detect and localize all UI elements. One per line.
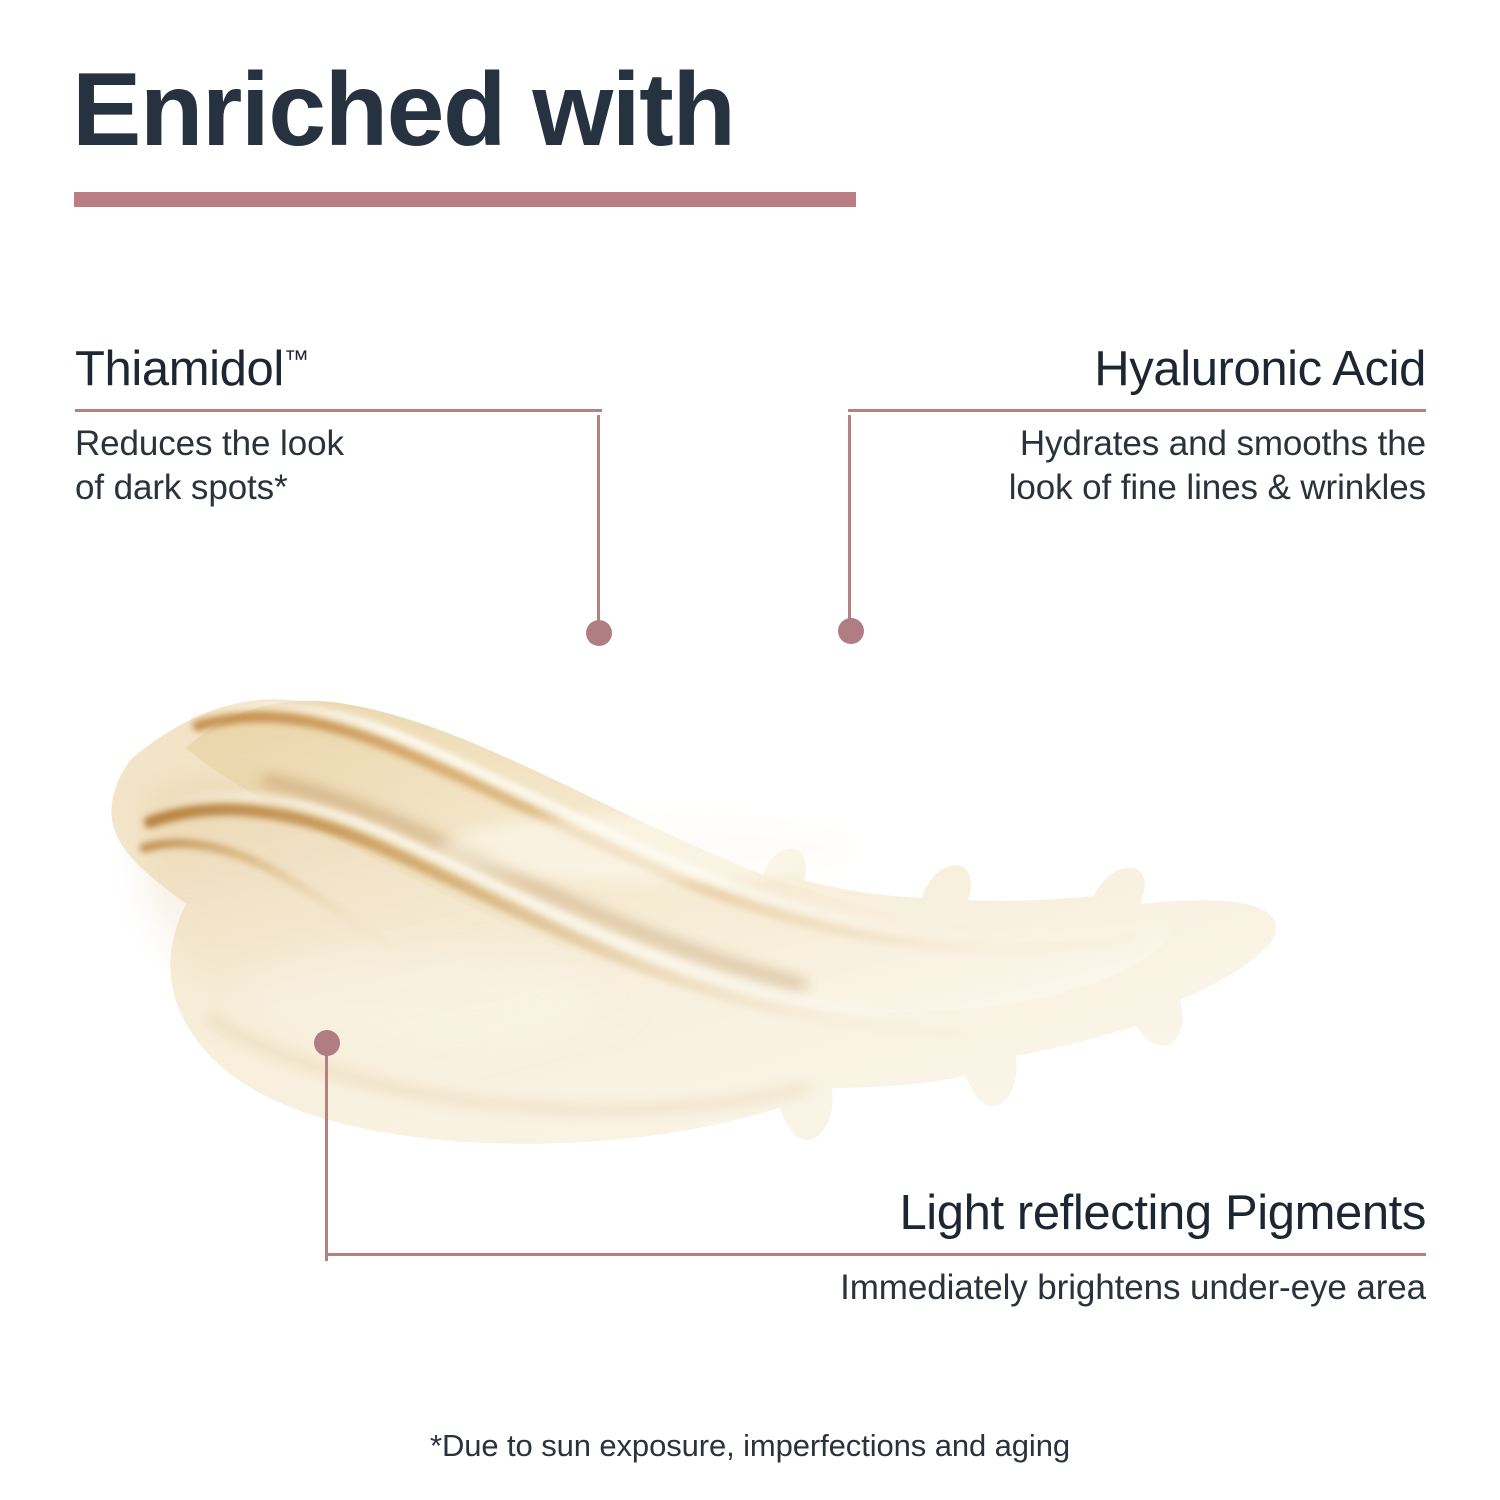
- cream-swatch-image: [90, 548, 1320, 1168]
- title-underline: [74, 192, 856, 207]
- callout-thiamidol-description: Reduces the look of dark spots*: [75, 422, 602, 510]
- trademark-icon: ™: [284, 346, 309, 374]
- swatch-sheen: [440, 814, 860, 882]
- swatch-body: [111, 699, 1276, 1143]
- swatch-fold-tip: [144, 843, 386, 944]
- leader-line-hyaluronic: [848, 415, 851, 631]
- callout-hyaluronic-acid: Hyaluronic Acid Hydrates and smooths the…: [848, 344, 1426, 509]
- swatch-upper-lobe: [186, 701, 1171, 1012]
- callout-pigments-rule: [325, 1253, 1426, 1256]
- callout-pigments-heading: Light reflecting Pigments: [325, 1188, 1426, 1239]
- callout-hyaluronic-rule: [848, 409, 1426, 412]
- callout-thiamidol-rule: [75, 409, 602, 412]
- swatch-highlight-upper: [202, 705, 966, 936]
- footnote: *Due to sun exposure, imperfections and …: [0, 1428, 1500, 1464]
- leader-dot-hyaluronic: [838, 618, 864, 644]
- callout-pigments-description: Immediately brightens under-eye area: [325, 1266, 1426, 1310]
- swatch-sheen-2: [240, 950, 600, 1046]
- infographic-canvas: Enriched with: [0, 0, 1500, 1500]
- page-title: Enriched with: [72, 58, 734, 162]
- leader-line-thiamidol: [597, 415, 600, 633]
- swatch-shadow-streak: [266, 780, 802, 984]
- swatch-inner-shade: [143, 779, 639, 1085]
- callout-hyaluronic-heading: Hyaluronic Acid: [848, 344, 1426, 395]
- callout-thiamidol: Thiamidol™ Reduces the look of dark spot…: [75, 344, 602, 509]
- callout-thiamidol-heading-text: Thiamidol: [75, 342, 284, 396]
- swatch-bottom-contour: [210, 1018, 806, 1110]
- callout-thiamidol-heading: Thiamidol™: [75, 344, 602, 395]
- leader-line-pigments: [325, 1042, 328, 1261]
- callout-pigments: Light reflecting Pigments Immediately br…: [325, 1188, 1426, 1310]
- swatch-fold-middle: [150, 810, 958, 1034]
- leader-dot-pigments: [314, 1030, 340, 1056]
- callout-hyaluronic-description: Hydrates and smooths the look of fine li…: [848, 422, 1426, 510]
- swatch-highlight-middle: [154, 796, 964, 1020]
- leader-dot-thiamidol: [586, 620, 612, 646]
- swatch-fold-upper: [198, 717, 1130, 950]
